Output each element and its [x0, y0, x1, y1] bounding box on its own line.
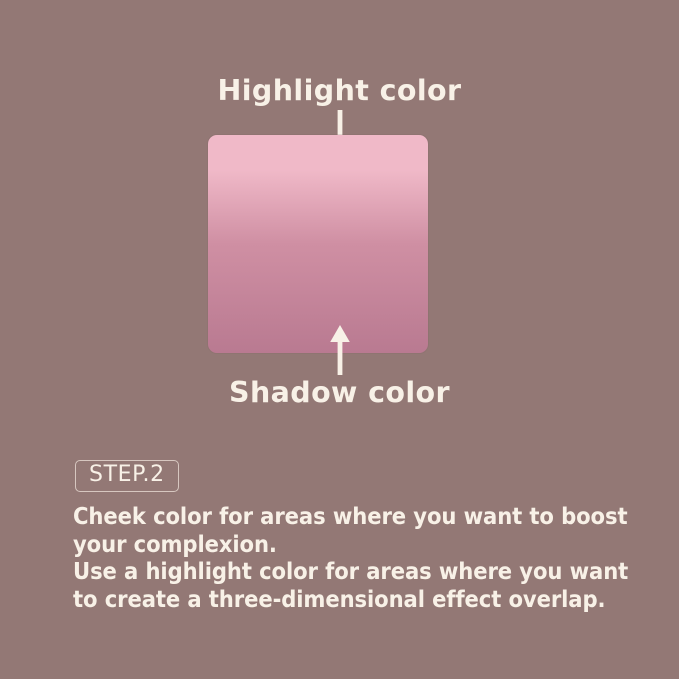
blush-gradient-swatch [208, 135, 428, 353]
instruction-card: Highlight color Shadow color STEP.2 Chee… [0, 0, 679, 679]
highlight-color-label: Highlight color [0, 74, 679, 107]
instruction-paragraph-1: Cheek color for areas where you want to … [73, 503, 629, 558]
step-badge: STEP.2 [75, 460, 179, 492]
instruction-line: to create a three-dimensional effect ove… [73, 586, 629, 614]
instruction-text: Cheek color for areas where you want to … [73, 503, 629, 613]
instruction-line: your complexion. [73, 531, 629, 559]
instruction-line: Cheek color for areas where you want to … [73, 503, 629, 531]
shadow-color-label: Shadow color [0, 376, 679, 409]
instruction-paragraph-2: Use a highlight color for areas where yo… [73, 558, 629, 613]
instruction-line: Use a highlight color for areas where yo… [73, 558, 629, 586]
